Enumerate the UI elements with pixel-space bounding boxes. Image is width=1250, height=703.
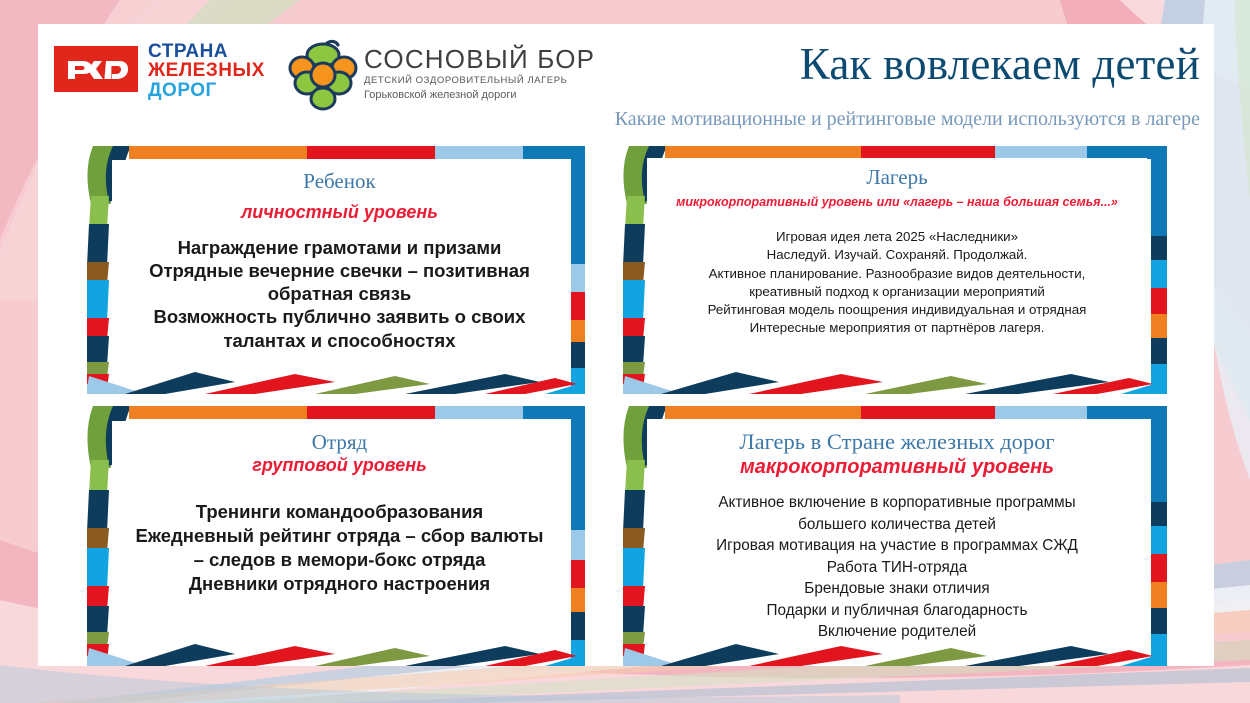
card-heading: Лагерь: [866, 166, 927, 189]
card-content: Ребенок личностный уровень Награждение г…: [112, 160, 567, 370]
card-heading: Ребенок: [303, 170, 375, 193]
card-line: Подарки и публичная благодарность: [716, 600, 1078, 621]
card-body-text: Тренинги командообразования Ежедневный р…: [136, 500, 544, 596]
rzd-logo: [54, 46, 138, 92]
card-line: – следов в мемори-бокс отряда: [136, 548, 544, 572]
card-line: Игровая идея лета 2025 «Наследники»: [708, 228, 1087, 246]
pine-cone-icon: [286, 38, 360, 112]
card-line: талантах и способностях: [149, 329, 530, 352]
camp-subtitle-1: ДЕТСКИЙ ОЗДОРОВИТЕЛЬНЫЙ ЛАГЕРЬ: [364, 75, 595, 86]
card-line: Брендовые знаки отличия: [716, 578, 1078, 599]
card-line: Рейтинговая модель поощрения индивидуаль…: [708, 301, 1087, 319]
card-level-label: групповой уровень: [252, 455, 427, 476]
card-line: креативный подход к организации мероприя…: [708, 283, 1087, 301]
card-line: Работа ТИН-отряда: [716, 557, 1078, 578]
card-content: Отряд групповой уровень Тренинги командо…: [112, 421, 567, 644]
card-heading: Отряд: [312, 431, 367, 454]
camp-subtitle-2: Горьковской железной дороги: [364, 89, 595, 101]
card-line: Активное включение в корпоративные прогр…: [716, 492, 1078, 513]
card-body-text: Игровая идея лета 2025 «Наследники» Насл…: [708, 228, 1087, 337]
card-content: Лагерь микрокорпоративный уровень или «л…: [647, 158, 1147, 372]
card-line: Возможность публично заявить о своих: [149, 305, 530, 328]
rzd-word-3: ДОРОГ: [148, 81, 265, 100]
page-subtitle: Какие мотивационные и рейтинговые модели…: [615, 108, 1200, 131]
card-level-label: личностный уровень: [241, 202, 438, 223]
card-line: обратная связь: [149, 282, 530, 305]
slide-header: СТРАНА ЖЕЛЕЗНЫХ ДОРОГ СОСНОВЫЙ БОР ДЕТСК…: [38, 24, 1214, 136]
card-squad: Отряд групповой уровень Тренинги командо…: [85, 404, 585, 666]
rzd-wordmark: СТРАНА ЖЕЛЕЗНЫХ ДОРОГ: [148, 42, 265, 100]
card-line: Ежедневный рейтинг отряда – сбор валюты: [136, 524, 544, 548]
card-heading: Лагерь в Стране железных дорог: [739, 430, 1054, 454]
rzd-word-2: ЖЕЛЕЗНЫХ: [148, 61, 265, 80]
card-body-text: Награждение грамотами и призами Отрядные…: [149, 236, 530, 352]
card-line: Награждение грамотами и призами: [149, 236, 530, 259]
card-line: Дневники отрядного настроения: [136, 572, 544, 596]
card-level-label: микрокорпоративный уровень или «лагерь –…: [676, 194, 1118, 211]
page-title: Как вовлекаем детей: [800, 42, 1200, 87]
card-line: Включение родителей: [716, 621, 1078, 642]
card-camp-in-country: Лагерь в Стране железных дорог макрокорп…: [621, 404, 1167, 666]
card-camp: Лагерь микрокорпоративный уровень или «л…: [621, 144, 1167, 394]
card-body-text: Активное включение в корпоративные прогр…: [716, 492, 1078, 642]
camp-wordmark: СОСНОВЫЙ БОР ДЕТСКИЙ ОЗДОРОВИТЕЛЬНЫЙ ЛАГ…: [364, 46, 595, 101]
card-content: Лагерь в Стране железных дорог макрокорп…: [647, 419, 1147, 644]
card-line: Отрядные вечерние свечки – позитивная: [149, 259, 530, 282]
card-line: Интересные мероприятия от партнёров лаге…: [708, 319, 1087, 337]
camp-name: СОСНОВЫЙ БОР: [364, 46, 595, 72]
slide-canvas: СТРАНА ЖЕЛЕЗНЫХ ДОРОГ СОСНОВЫЙ БОР ДЕТСК…: [38, 24, 1214, 666]
rzd-word-1: СТРАНА: [148, 42, 265, 61]
card-line: Активное планирование. Разнообразие видо…: [708, 265, 1087, 283]
card-line: Тренинги командообразования: [136, 500, 544, 524]
card-child: Ребенок личностный уровень Награждение г…: [85, 144, 585, 394]
card-line: Наследуй. Изучай. Сохраняй. Продолжай.: [708, 246, 1087, 264]
card-line: большего количества детей: [716, 514, 1078, 535]
card-level-label: макрокорпоративный уровень: [740, 456, 1054, 479]
card-line: Игровая мотивация на участие в программа…: [716, 535, 1078, 556]
